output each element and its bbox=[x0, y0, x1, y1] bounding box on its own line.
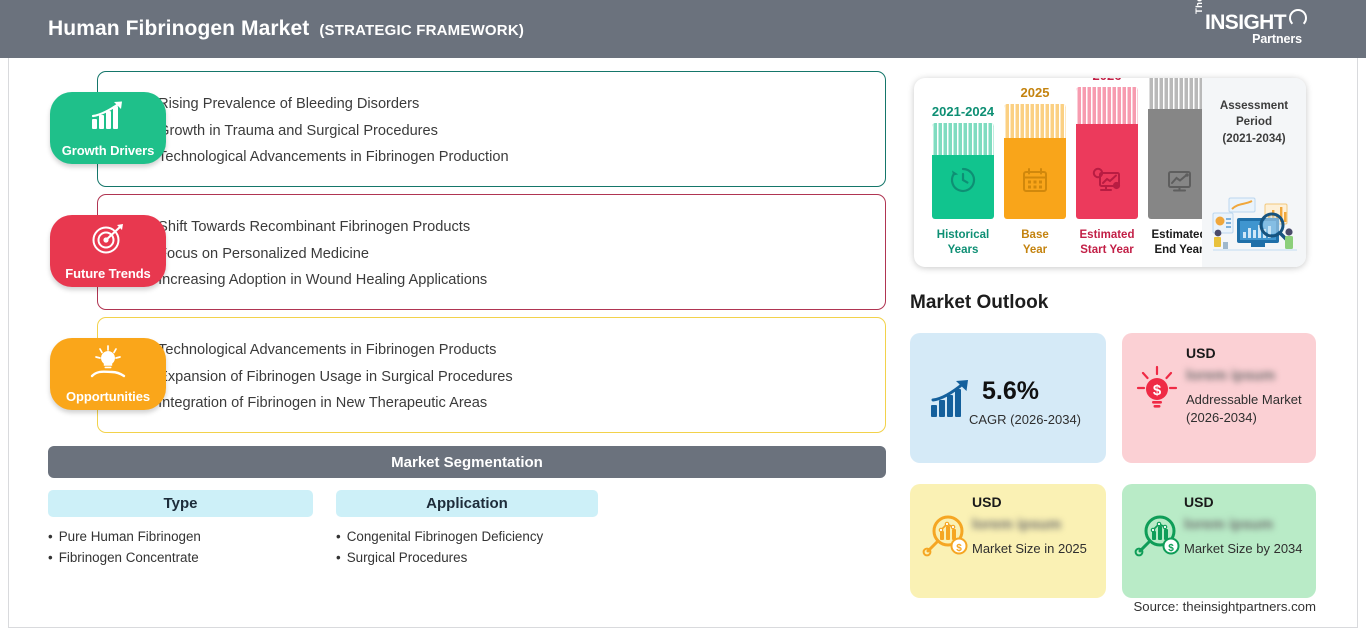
kpi-blurred-value: lorem ipsum bbox=[1186, 367, 1275, 384]
kpi-card-addressable-market: USD $ lorem ipsum Addressable Market (20… bbox=[1122, 333, 1316, 463]
lightbulb-hand-icon bbox=[88, 345, 128, 384]
svg-text:$: $ bbox=[1168, 543, 1174, 554]
list-item: Integration of Fibrinogen in New Therape… bbox=[145, 396, 513, 411]
assessment-period-sidepanel: Assessment Period (2021-2034) bbox=[1202, 78, 1306, 267]
kpi-caption-cagr: CAGR (2026-2034) bbox=[969, 411, 1081, 429]
bar-chart-arrow-icon bbox=[928, 379, 974, 424]
page-title: Human Fibrinogen Market (STRATEGIC FRAME… bbox=[48, 17, 524, 41]
kpi-card-cagr: 5.6% CAGR (2026-2034) bbox=[910, 333, 1106, 463]
caption-line: Historical bbox=[937, 228, 989, 242]
bullet-list-growth-drivers: Rising Prevalence of Bleeding Disorders … bbox=[145, 97, 509, 177]
magnifier-chart-dollar-icon: $ bbox=[1134, 512, 1182, 565]
logo-the-text: The bbox=[1194, 0, 1205, 14]
chart-monitor-icon bbox=[1164, 166, 1194, 199]
caption-line: Years bbox=[937, 243, 989, 257]
list-item: Expansion of Fibrinogen Usage in Surgica… bbox=[145, 370, 513, 385]
segmentation-column-label: Application bbox=[426, 495, 508, 512]
list-item: Focus on Personalized Medicine bbox=[145, 247, 487, 262]
segmentation-list-type: Pure Human Fibrinogen Fibrinogen Concent… bbox=[48, 527, 201, 569]
segmentation-list-application: Congenital Fibrinogen Deficiency Surgica… bbox=[336, 527, 543, 569]
assessment-bar-estimated-start: 2026 bbox=[1076, 87, 1138, 219]
caption-line: Start Year bbox=[1080, 243, 1135, 257]
logo-partners-text: Partners bbox=[1252, 32, 1302, 46]
svg-text:$: $ bbox=[1153, 382, 1162, 399]
kpi-value-cagr: 5.6% bbox=[982, 377, 1039, 406]
assessment-period-title: Assessment Period bbox=[1202, 98, 1306, 129]
assessment-title-line1: Assessment bbox=[1202, 98, 1306, 114]
caption-line: Base bbox=[1021, 228, 1049, 242]
bullet-list-future-trends: Shift Towards Recombinant Fibrinogen Pro… bbox=[145, 220, 487, 300]
insight-partners-logo: The INSIGHT Partners bbox=[1194, 8, 1310, 52]
calendar-icon bbox=[1021, 166, 1049, 199]
list-item: Congenital Fibrinogen Deficiency bbox=[336, 527, 543, 548]
svg-text:$: $ bbox=[956, 543, 962, 554]
list-item: Growth in Trauma and Surgical Procedures bbox=[145, 124, 509, 139]
kpi-card-market-size-2034: USD $ lorem ipsum Market Size by 2034 bbox=[1122, 484, 1316, 598]
market-segmentation-title: Market Segmentation bbox=[391, 454, 543, 471]
kpi-currency-label: USD bbox=[972, 494, 1002, 510]
badge-opportunities[interactable]: Opportunities bbox=[50, 338, 166, 410]
kpi-blurred-value: lorem ipsum bbox=[972, 516, 1061, 533]
assessment-bar-base: 2025 bbox=[1004, 104, 1066, 219]
badge-label: Growth Drivers bbox=[62, 143, 155, 164]
kpi-card-market-size-2025: USD $ lorem ipsum Market Size in 2025 bbox=[910, 484, 1106, 598]
bar-caption-estimated-end: Estimated End Year bbox=[1152, 228, 1207, 257]
badge-label: Future Trends bbox=[65, 266, 150, 287]
target-dart-icon bbox=[89, 222, 127, 261]
bar-chart-up-icon bbox=[88, 99, 128, 136]
kpi-currency-label: USD bbox=[1184, 494, 1214, 510]
kpi-caption-addressable-market: Addressable Market (2026-2034) bbox=[1186, 391, 1306, 426]
caption-line: End Year bbox=[1152, 243, 1207, 257]
list-item: Technological Advancements in Fibrinogen… bbox=[145, 150, 509, 165]
assessment-title-line2: Period bbox=[1202, 114, 1306, 130]
list-item: Shift Towards Recombinant Fibrinogen Pro… bbox=[145, 220, 487, 235]
segmentation-column-label: Type bbox=[164, 495, 198, 512]
assessment-bar-estimated-end: 2034 bbox=[1148, 78, 1210, 219]
infographic-page: Human Fibrinogen Market (STRATEGIC FRAME… bbox=[0, 0, 1366, 635]
market-segmentation-header: Market Segmentation bbox=[48, 446, 886, 478]
kpi-blurred-value: lorem ipsum bbox=[1184, 516, 1273, 533]
page-header: Human Fibrinogen Market (STRATEGIC FRAME… bbox=[0, 0, 1366, 58]
list-item: Surgical Procedures bbox=[336, 548, 543, 569]
assessment-period-range: (2021-2034) bbox=[1202, 132, 1306, 145]
lightbulb-dollar-icon: $ bbox=[1134, 365, 1180, 418]
assessment-period-card: 2021-2024 Historical Years 2025 bbox=[914, 78, 1306, 267]
badge-label: Opportunities bbox=[66, 389, 150, 410]
bar-caption-estimated-start: Estimated Start Year bbox=[1080, 228, 1135, 257]
caption-line: Estimated bbox=[1152, 228, 1207, 242]
logo-ring-icon bbox=[1289, 9, 1307, 27]
bar-year-label: 2025 bbox=[1021, 85, 1050, 100]
segmentation-column-application: Application bbox=[336, 490, 598, 517]
caption-line: Estimated bbox=[1080, 228, 1135, 242]
assessment-bar-historical: 2021-2024 bbox=[932, 123, 994, 219]
list-item: Increasing Adoption in Wound Healing App… bbox=[145, 273, 487, 288]
page-title-subtitle: (STRATEGIC FRAMEWORK) bbox=[319, 22, 524, 39]
list-item: Technological Advancements in Fibrinogen… bbox=[145, 343, 513, 358]
magnifier-chart-dollar-icon: $ bbox=[922, 512, 970, 565]
data-analysis-illustration bbox=[1209, 192, 1301, 259]
badge-growth-drivers[interactable]: Growth Drivers bbox=[50, 92, 166, 164]
badge-future-trends[interactable]: Future Trends bbox=[50, 215, 166, 287]
clock-history-icon bbox=[949, 166, 977, 199]
bar-year-label: 2021-2024 bbox=[932, 104, 994, 119]
forecast-monitor-icon bbox=[1092, 166, 1122, 199]
market-outlook-title: Market Outlook bbox=[910, 292, 1048, 314]
bar-year-label: 2026 bbox=[1093, 78, 1122, 83]
caption-line: Year bbox=[1021, 243, 1049, 257]
kpi-currency-label: USD bbox=[1186, 345, 1216, 361]
list-item: Rising Prevalence of Bleeding Disorders bbox=[145, 97, 509, 112]
segmentation-column-type: Type bbox=[48, 490, 313, 517]
bar-caption-base: Base Year bbox=[1021, 228, 1049, 257]
list-item: Pure Human Fibrinogen bbox=[48, 527, 201, 548]
bullet-list-opportunities: Technological Advancements in Fibrinogen… bbox=[145, 343, 513, 423]
bar-caption-historical: Historical Years bbox=[937, 228, 989, 257]
list-item: Fibrinogen Concentrate bbox=[48, 548, 201, 569]
source-attribution: Source: theinsightpartners.com bbox=[1133, 599, 1316, 614]
kpi-caption-market-size-2025: Market Size in 2025 bbox=[972, 540, 1094, 558]
page-title-main: Human Fibrinogen Market bbox=[48, 17, 309, 41]
kpi-caption-market-size-2034: Market Size by 2034 bbox=[1184, 540, 1306, 558]
